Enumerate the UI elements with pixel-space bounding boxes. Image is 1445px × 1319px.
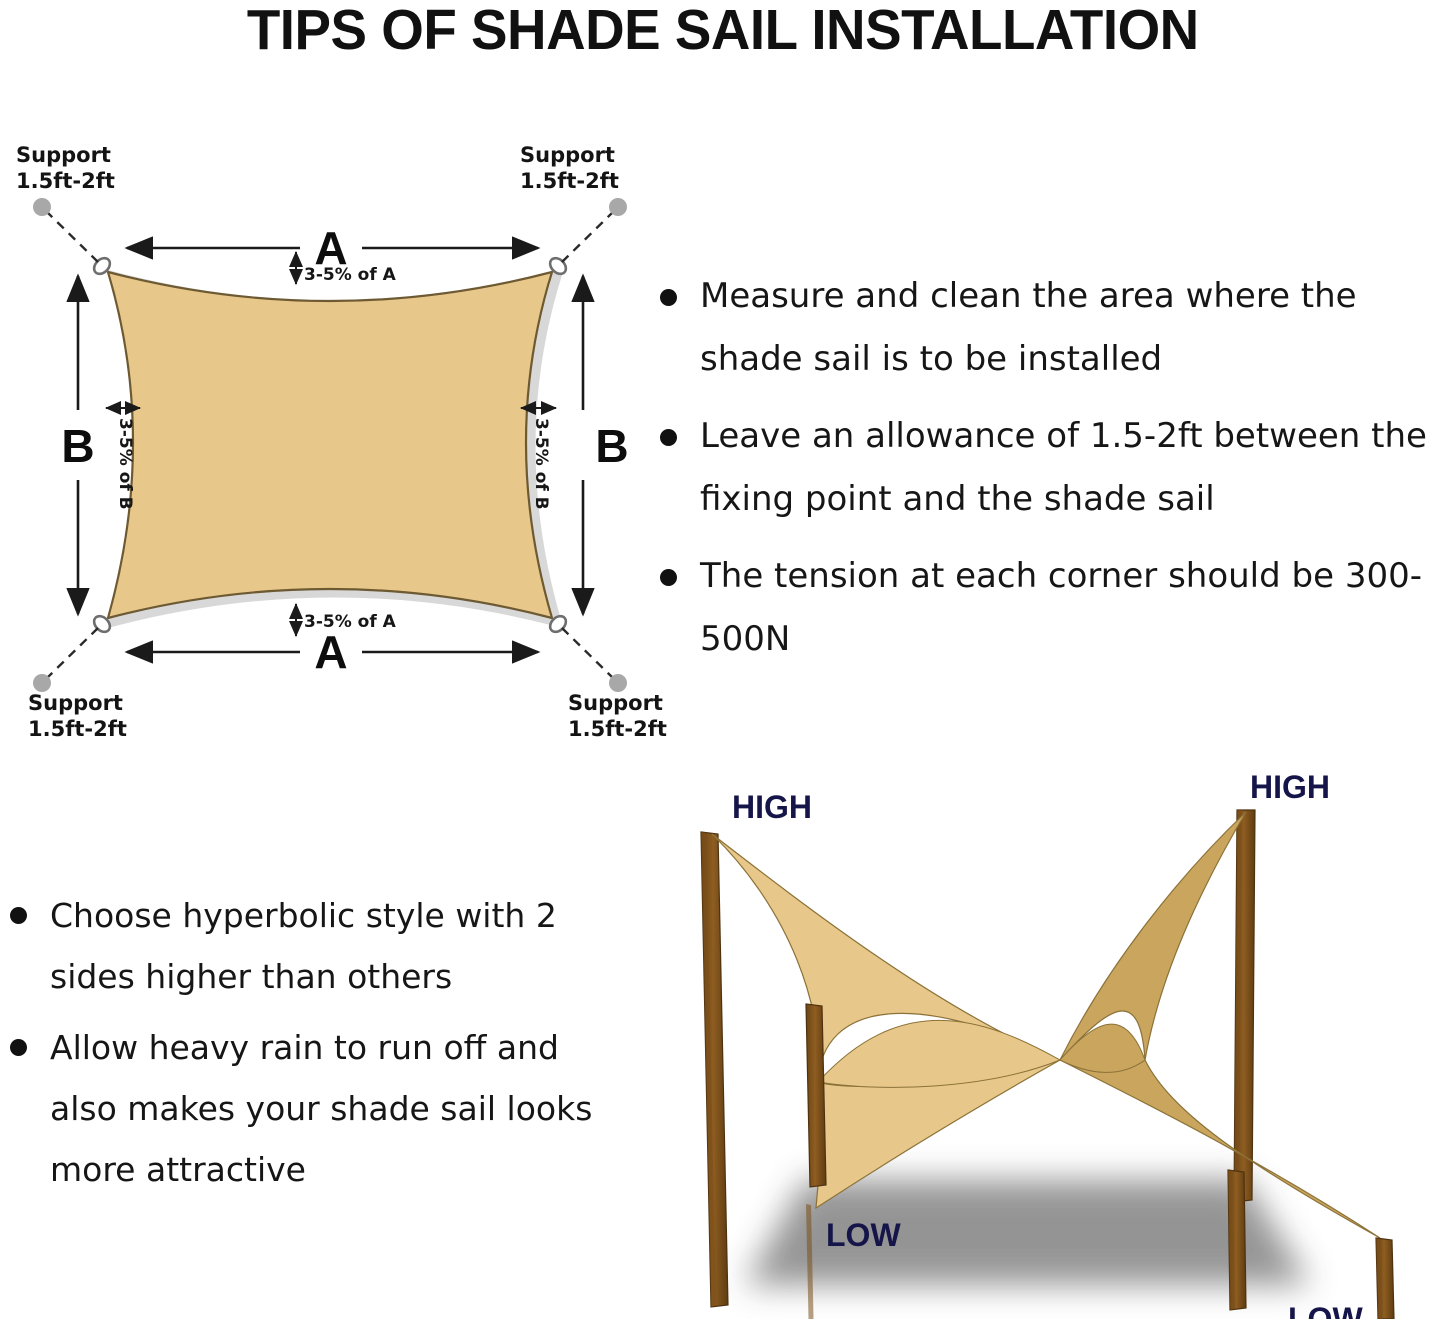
svg-text:Support: Support: [568, 691, 663, 715]
curve-b-left-label: 3-5% of B: [115, 418, 135, 510]
curve-b-right-label: 3-5% of B: [531, 418, 551, 510]
label-high-right: HIGH: [1250, 769, 1330, 805]
dimension-a-bottom: A: [127, 626, 538, 678]
bottom-tip-item-1: Choose hyperbolic style with 2 sides hig…: [0, 885, 630, 1007]
post-high-left: [701, 832, 728, 1307]
curve-b-left: 3-5% of B: [106, 408, 140, 510]
label-low-right: LOW: [1288, 1301, 1363, 1319]
post-front-mid: [1228, 1170, 1246, 1310]
support-label-top-right: Support 1.5ft-2ft: [520, 143, 619, 193]
sail-center-crossing-right: [1060, 1024, 1145, 1072]
svg-text:1.5ft-2ft: 1.5ft-2ft: [568, 717, 667, 741]
top-tips-list: Measure and clean the area where the sha…: [646, 265, 1445, 685]
support-label-top-left: Support 1.5ft-2ft: [16, 143, 115, 193]
dimension-b-left-label: B: [61, 420, 94, 472]
support-label-bottom-left: Support 1.5ft-2ft: [28, 691, 127, 741]
top-tip-item-3: The tension at each corner should be 300…: [646, 545, 1445, 671]
top-tip-item-1: Measure and clean the area where the sha…: [646, 265, 1445, 391]
shade-sail-shape: [108, 272, 552, 618]
hyperbolic-sail-diagram: HIGH HIGH LOW LOW: [640, 760, 1445, 1319]
dimension-b-right-label: B: [595, 420, 628, 472]
svg-text:1.5ft-2ft: 1.5ft-2ft: [28, 717, 127, 741]
sail-wing-right: [1060, 812, 1246, 1060]
curve-a-bottom: 3-5% of A: [296, 604, 397, 636]
top-section: A 3-5% of A A 3-5% of A B: [0, 140, 1445, 740]
svg-text:Support: Support: [28, 691, 123, 715]
support-dot-top-right: [609, 198, 627, 216]
support-label-bottom-right: Support 1.5ft-2ft: [568, 691, 667, 741]
bottom-tip-item-2: Allow heavy rain to run off and also mak…: [0, 1017, 630, 1200]
bottom-section: Choose hyperbolic style with 2 sides hig…: [0, 760, 1445, 1319]
post-low-right: [1376, 1238, 1394, 1319]
title-bar: TIPS OF SHADE SAIL INSTALLATION: [0, 0, 1445, 62]
support-dot-bottom-left: [33, 674, 51, 692]
support-dot-top-left: [33, 198, 51, 216]
curve-a-top-label: 3-5% of A: [304, 265, 397, 285]
svg-text:1.5ft-2ft: 1.5ft-2ft: [520, 169, 619, 193]
bottom-tips-list: Choose hyperbolic style with 2 sides hig…: [0, 885, 630, 1210]
support-dot-bottom-right: [609, 674, 627, 692]
dimension-b-left: B: [61, 276, 94, 614]
rectangular-sail-diagram: A 3-5% of A A 3-5% of A B: [0, 140, 660, 740]
top-tip-item-2: Leave an allowance of 1.5-2ft between th…: [646, 405, 1445, 531]
dimension-b-right: B: [583, 276, 629, 614]
label-low-left: LOW: [826, 1217, 901, 1253]
page-title: TIPS OF SHADE SAIL INSTALLATION: [247, 0, 1199, 60]
post-high-right: [1234, 810, 1255, 1202]
label-high-left: HIGH: [732, 789, 812, 825]
svg-text:Support: Support: [520, 143, 615, 167]
svg-text:1.5ft-2ft: 1.5ft-2ft: [16, 169, 115, 193]
svg-text:Support: Support: [16, 143, 111, 167]
curve-a-bottom-label: 3-5% of A: [304, 612, 397, 632]
dimension-a-bottom-label: A: [314, 626, 347, 678]
